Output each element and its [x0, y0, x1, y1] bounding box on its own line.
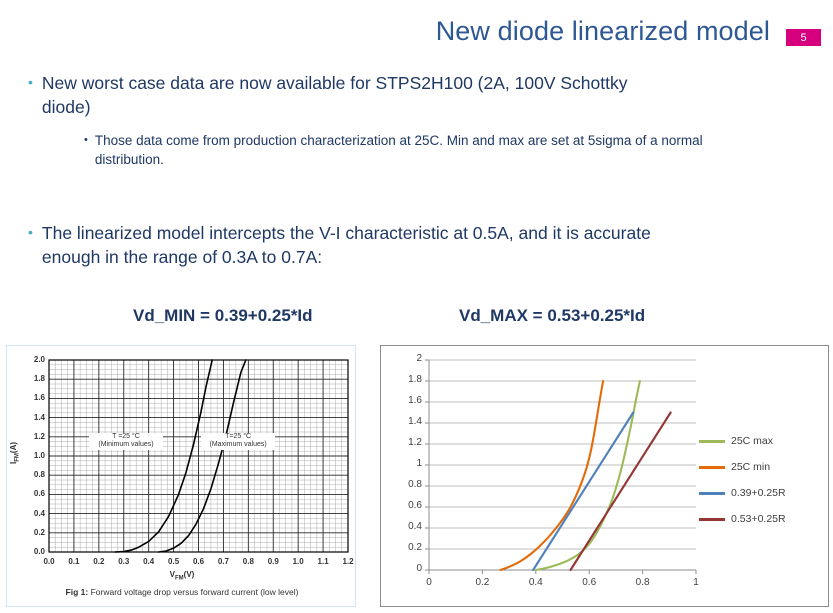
comparison-y-tick: 1.2	[389, 437, 422, 448]
comparison-x-tick: 0.6	[574, 577, 604, 588]
comparison-y-tick: 0.6	[389, 500, 422, 511]
comparison-x-tick: 0.8	[628, 577, 658, 588]
comparison-y-tick: 0.2	[389, 542, 422, 553]
page-number-badge: 5	[786, 29, 821, 46]
comparison-y-tick: 0.8	[389, 479, 422, 490]
datasheet-y-tick: 1.2	[21, 432, 45, 441]
datasheet-x-tick: 1.0	[288, 557, 308, 566]
comparison-x-tick: 0.4	[521, 577, 551, 588]
formula-vd-max: Vd_MAX = 0.53+0.25*Id	[459, 306, 645, 326]
legend-swatch-icon	[699, 492, 725, 495]
datasheet-y-tick: 0.8	[21, 470, 45, 479]
datasheet-x-axis-label: VFM(V)	[7, 570, 357, 582]
bullet-item-2: • The linearized model intercepts the V-…	[28, 222, 688, 269]
legend-item-2: 0.39+0.25R	[699, 480, 823, 506]
datasheet-x-tick: 0.1	[64, 557, 84, 566]
datasheet-figure: IFM(A) VFM(V) Fig 1: Forward voltage dro…	[6, 345, 356, 607]
datasheet-y-tick: 0.2	[21, 528, 45, 537]
datasheet-caption: Fig 1: Forward voltage drop versus forwa…	[7, 587, 357, 597]
legend-label: 0.39+0.25R	[731, 487, 786, 499]
comparison-y-tick: 0	[389, 563, 422, 574]
bullet-item-1: • New worst case data are now available …	[28, 72, 668, 119]
comparison-curve-2	[533, 413, 633, 571]
bullet-item-2-text: The linearized model intercepts the V-I …	[42, 222, 688, 269]
bullet-marker-icon: •	[28, 72, 33, 92]
datasheet-x-tick: 0.9	[263, 557, 283, 566]
page-title: New diode linearized model	[300, 16, 770, 47]
comparison-y-tick: 2	[389, 353, 422, 364]
legend-label: 25C min	[731, 461, 770, 473]
datasheet-x-tick: 0.2	[89, 557, 109, 566]
datasheet-plot-svg	[7, 346, 357, 608]
datasheet-y-tick: 0.4	[21, 509, 45, 518]
legend-item-3: 0.53+0.25R	[699, 506, 823, 532]
datasheet-y-tick: 1.4	[21, 413, 45, 422]
legend-swatch-icon	[699, 518, 725, 521]
datasheet-y-tick: 0.0	[21, 547, 45, 556]
comparison-chart: 25C max25C min0.39+0.25R0.53+0.25R 00.20…	[380, 345, 829, 607]
datasheet-x-tick: 0.7	[213, 557, 233, 566]
comparison-y-tick: 1	[389, 458, 422, 469]
bullet-item-1-sub: • Those data come from production charac…	[84, 132, 724, 169]
datasheet-plot-area: IFM(A) VFM(V) Fig 1: Forward voltage dro…	[7, 346, 357, 608]
comparison-x-tick: 0	[414, 577, 444, 588]
comparison-y-tick: 1.6	[389, 395, 422, 406]
datasheet-x-tick: 0.0	[39, 557, 59, 566]
legend-item-1: 25C min	[699, 454, 823, 480]
datasheet-y-tick: 1.8	[21, 374, 45, 383]
datasheet-x-tick: 1.1	[313, 557, 333, 566]
datasheet-y-tick: 1.6	[21, 393, 45, 402]
legend-label: 25C max	[731, 435, 773, 447]
comparison-x-tick: 0.2	[467, 577, 497, 588]
comparison-y-tick: 1.4	[389, 416, 422, 427]
datasheet-x-tick: 0.6	[189, 557, 209, 566]
datasheet-x-tick: 1.2	[338, 557, 358, 566]
bullet-item-1-sub-text: Those data come from production characte…	[95, 132, 724, 169]
datasheet-y-tick: 0.6	[21, 489, 45, 498]
datasheet-y-axis-label: IFM(A)	[9, 442, 21, 464]
legend-swatch-icon	[699, 466, 725, 469]
comparison-x-tick: 1	[681, 577, 711, 588]
bullet-item-1-text: New worst case data are now available fo…	[42, 72, 668, 119]
datasheet-x-tick: 0.3	[114, 557, 134, 566]
comparison-y-tick: 0.4	[389, 521, 422, 532]
datasheet-y-tick: 1.0	[21, 451, 45, 460]
comparison-y-tick: 1.8	[389, 374, 422, 385]
datasheet-annotation-1: T=25 °C(Maximum values)	[201, 433, 275, 451]
bullet-marker-icon: •	[84, 132, 88, 149]
legend-swatch-icon	[699, 440, 725, 443]
datasheet-x-tick: 0.4	[139, 557, 159, 566]
comparison-chart-legend: 25C max25C min0.39+0.25R0.53+0.25R	[699, 428, 823, 532]
datasheet-x-tick: 0.8	[238, 557, 258, 566]
legend-label: 0.53+0.25R	[731, 513, 786, 525]
formula-vd-min: Vd_MIN = 0.39+0.25*Id	[133, 306, 313, 326]
comparison-curve-3	[571, 413, 671, 571]
legend-item-0: 25C max	[699, 428, 823, 454]
datasheet-x-tick: 0.5	[164, 557, 184, 566]
bullet-marker-icon: •	[28, 222, 33, 242]
datasheet-annotation-0: T =25 °C(Minimum values)	[89, 433, 163, 451]
datasheet-y-tick: 2.0	[21, 355, 45, 364]
